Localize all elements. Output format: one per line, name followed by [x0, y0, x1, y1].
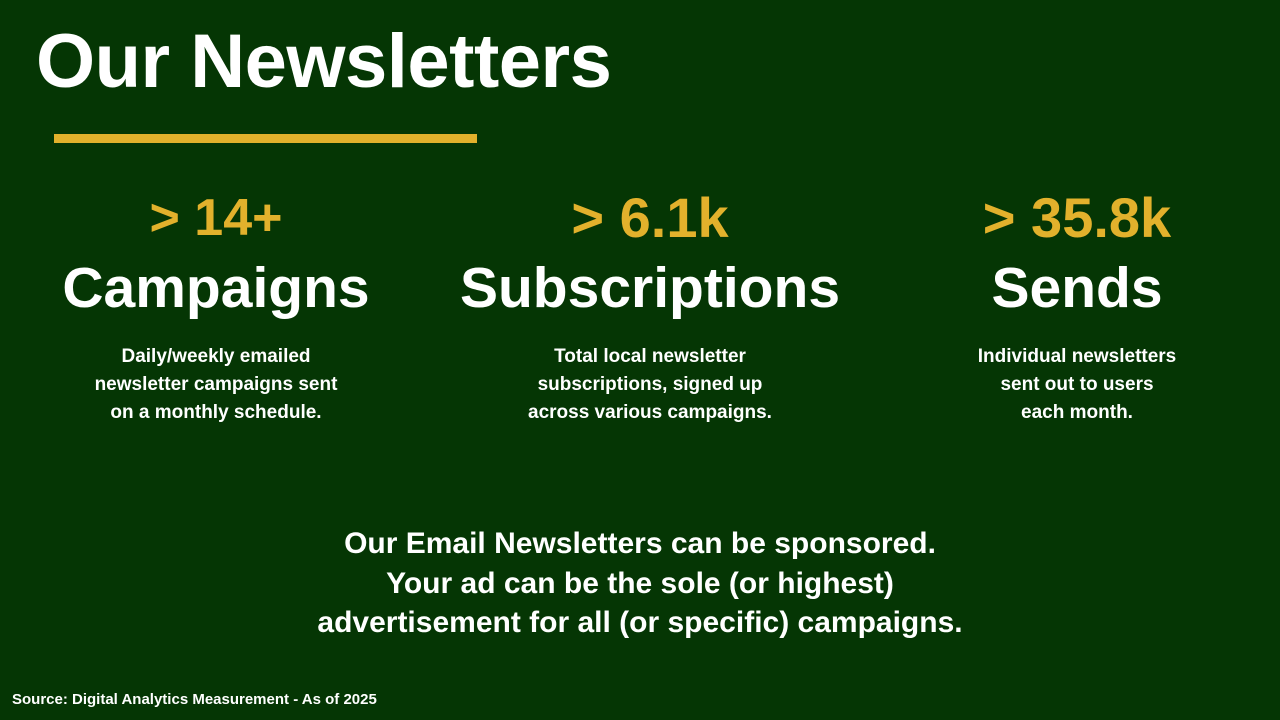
stat-card-subscriptions: > 6.1k Subscriptions Total local newslet…	[450, 190, 850, 427]
newsletter-stats-slide: Our Newsletters > 14+ Campaigns Daily/we…	[0, 0, 1280, 720]
sponsorship-note-line: advertisement for all (or specific) camp…	[0, 603, 1280, 643]
stat-value-campaigns: > 14+	[16, 190, 416, 244]
stat-label-sends: Sends	[877, 260, 1277, 317]
stat-description-line: each month.	[877, 399, 1277, 427]
stat-description-campaigns: Daily/weekly emailed newsletter campaign…	[16, 343, 416, 427]
title-underline-accent-bar	[54, 134, 477, 143]
stat-description-line: newsletter campaigns sent	[16, 371, 416, 399]
sponsorship-note-line: Your ad can be the sole (or highest)	[0, 564, 1280, 604]
stat-description-line: Individual newsletters	[877, 343, 1277, 371]
stat-label-subscriptions: Subscriptions	[450, 260, 850, 317]
stat-description-sends: Individual newsletters sent out to users…	[877, 343, 1277, 427]
stat-label-campaigns: Campaigns	[16, 260, 416, 317]
stat-card-sends: > 35.8k Sends Individual newsletters sen…	[877, 190, 1277, 427]
sponsorship-note-line: Our Email Newsletters can be sponsored.	[0, 524, 1280, 564]
page-title: Our Newsletters	[36, 24, 611, 100]
stat-description-line: Total local newsletter	[450, 343, 850, 371]
stat-description-subscriptions: Total local newsletter subscriptions, si…	[450, 343, 850, 427]
sponsorship-note: Our Email Newsletters can be sponsored. …	[0, 524, 1280, 643]
stats-row: > 14+ Campaigns Daily/weekly emailed new…	[0, 190, 1280, 450]
stat-description-line: across various campaigns.	[450, 399, 850, 427]
source-footer: Source: Digital Analytics Measurement - …	[12, 691, 377, 708]
stat-description-line: sent out to users	[877, 371, 1277, 399]
stat-description-line: on a monthly schedule.	[16, 399, 416, 427]
stat-value-sends: > 35.8k	[877, 190, 1277, 246]
stat-description-line: Daily/weekly emailed	[16, 343, 416, 371]
stat-card-campaigns: > 14+ Campaigns Daily/weekly emailed new…	[16, 190, 416, 427]
stat-value-subscriptions: > 6.1k	[450, 190, 850, 246]
stat-description-line: subscriptions, signed up	[450, 371, 850, 399]
